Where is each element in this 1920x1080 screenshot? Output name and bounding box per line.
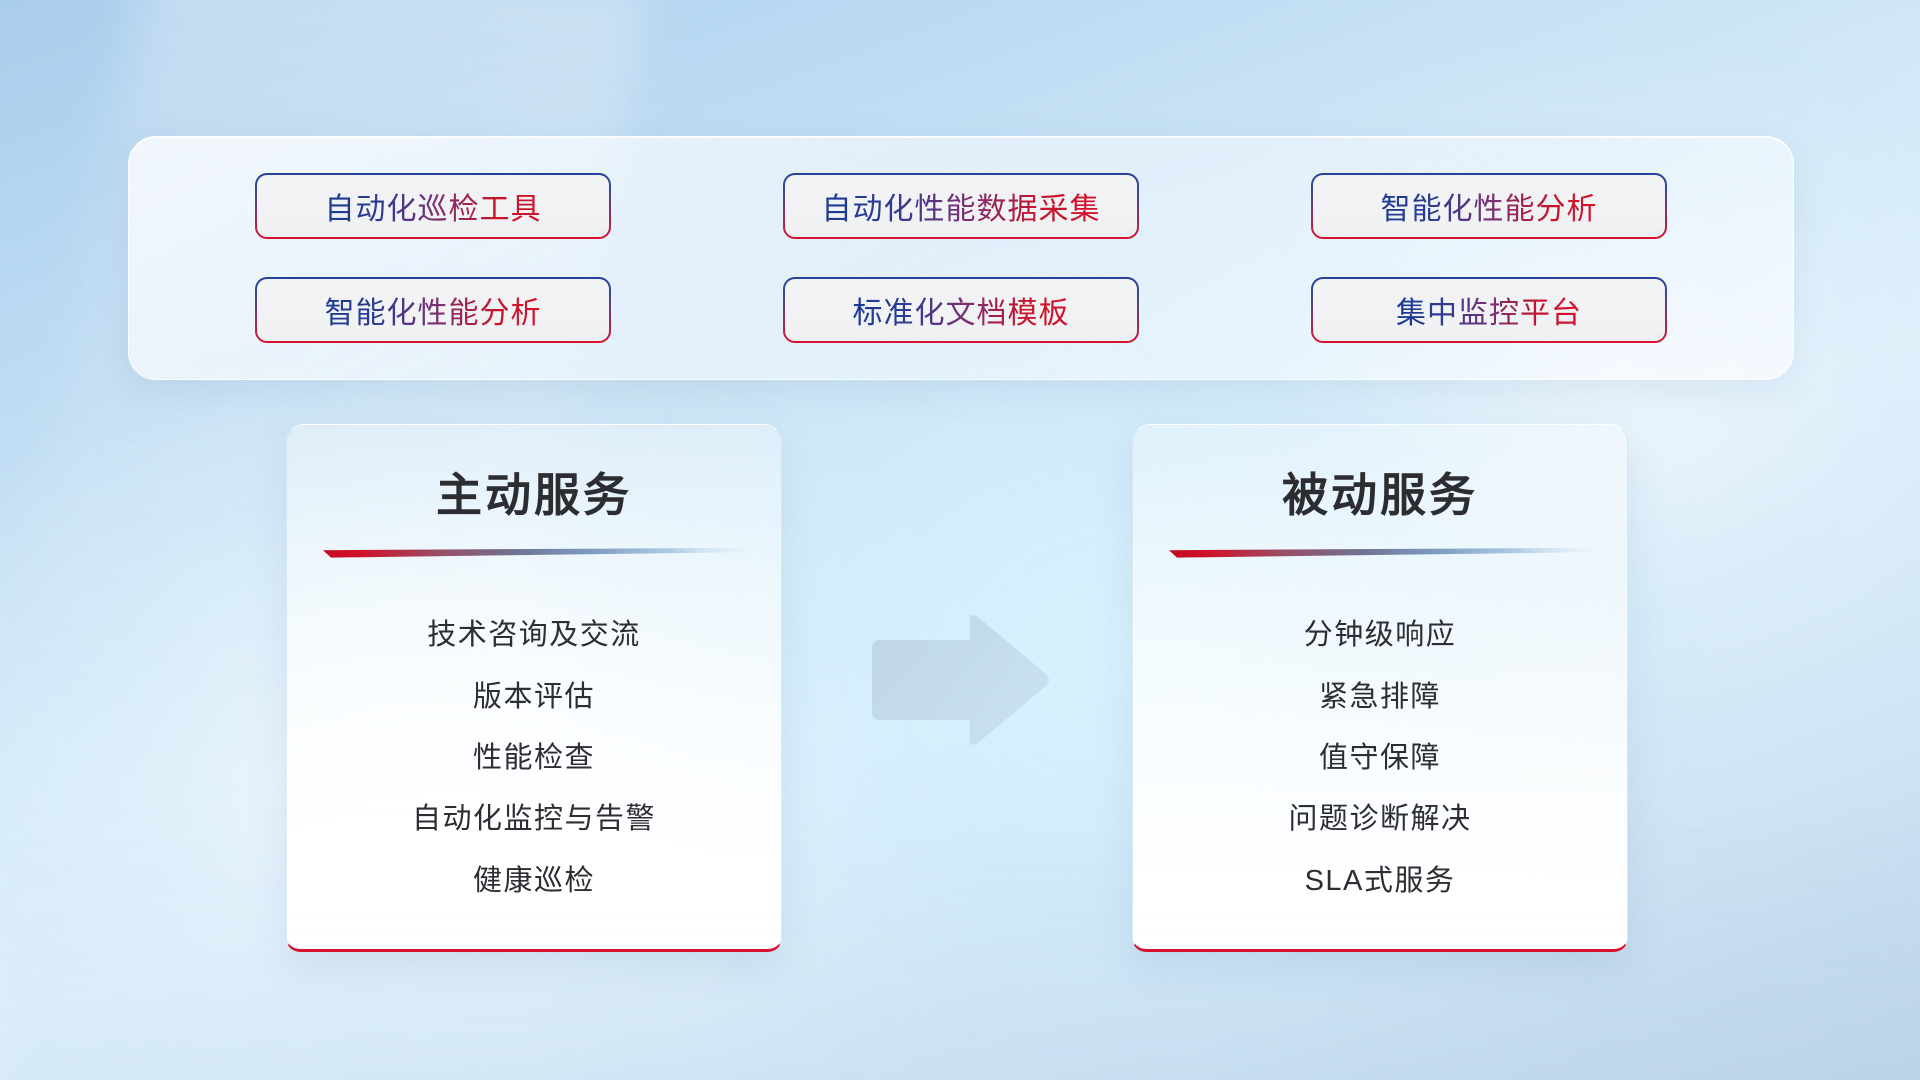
capability-tag-6[interactable]: 集中监控平台 <box>1311 277 1667 343</box>
capability-tag-4-surface: 智能化性能分析 <box>257 279 609 341</box>
capability-tag-2[interactable]: 自动化性能数据采集 <box>783 173 1139 239</box>
service-card-proactive-list: 技术咨询及交流 版本评估 性能检查 自动化监控与告警 健康巡检 <box>287 591 781 927</box>
list-item: 版本评估 <box>473 682 595 714</box>
capability-tag-4-label: 智能化性能分析 <box>325 288 542 332</box>
list-item: 技术咨询及交流 <box>427 620 641 652</box>
service-card-proactive: 主动服务 技术咨询及交流 版本评估 性能检查 自动化监控与告警 健康巡检 <box>286 424 782 952</box>
capability-tags-grid: 自动化巡检工具 自动化性能数据采集 智能化性能分析 智能化性能分析 标准化文档模… <box>129 137 1793 379</box>
capability-tags-panel: 自动化巡检工具 自动化性能数据采集 智能化性能分析 智能化性能分析 标准化文档模… <box>128 136 1794 380</box>
list-item: 分钟级响应 <box>1304 620 1457 652</box>
service-card-proactive-title: 主动服务 <box>287 459 781 525</box>
capability-tag-5-surface: 标准化文档模板 <box>785 279 1137 341</box>
capability-tag-3-surface: 智能化性能分析 <box>1313 175 1665 237</box>
list-item: 性能检查 <box>473 743 595 775</box>
service-card-reactive: 被动服务 分钟级响应 紧急排障 值守保障 问题诊断解决 SLA式服务 <box>1132 424 1628 952</box>
list-item: 问题诊断解决 <box>1288 804 1471 836</box>
list-item: 自动化监控与告警 <box>412 804 656 836</box>
divider-accent-bar-right <box>1169 547 1593 560</box>
capability-tag-3-label: 智能化性能分析 <box>1381 184 1598 228</box>
service-card-reactive-title: 被动服务 <box>1133 459 1627 525</box>
service-card-reactive-list: 分钟级响应 紧急排障 值守保障 问题诊断解决 SLA式服务 <box>1133 591 1627 927</box>
capability-tag-1-label: 自动化巡检工具 <box>325 184 542 228</box>
list-item: 紧急排障 <box>1319 682 1441 714</box>
list-item: 健康巡检 <box>473 866 595 898</box>
capability-tag-6-surface: 集中监控平台 <box>1313 279 1665 341</box>
capability-tag-5-label: 标准化文档模板 <box>853 288 1070 332</box>
capability-tag-1-surface: 自动化巡检工具 <box>257 175 609 237</box>
capability-tag-5[interactable]: 标准化文档模板 <box>783 277 1139 343</box>
capability-tag-6-label: 集中监控平台 <box>1396 288 1582 332</box>
divider-accent-bar-left <box>323 547 747 560</box>
right-arrow-icon <box>866 612 1052 748</box>
capability-tag-3[interactable]: 智能化性能分析 <box>1311 173 1667 239</box>
capability-tag-2-surface: 自动化性能数据采集 <box>785 175 1137 237</box>
capability-tag-2-label: 自动化性能数据采集 <box>822 184 1101 228</box>
list-item: SLA式服务 <box>1305 866 1456 898</box>
list-item: 值守保障 <box>1319 743 1441 775</box>
capability-tag-1[interactable]: 自动化巡检工具 <box>255 173 611 239</box>
capability-tag-4[interactable]: 智能化性能分析 <box>255 277 611 343</box>
